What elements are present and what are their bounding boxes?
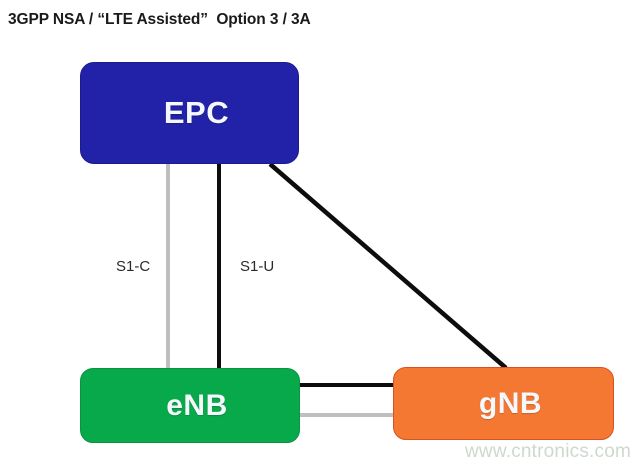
node-gnb-label: gNB: [479, 387, 542, 421]
node-gnb[interactable]: gNB: [393, 367, 614, 440]
node-enb-label: eNB: [166, 389, 228, 423]
edge-label-s1u: S1-U: [240, 258, 274, 275]
edge-epc-gnb-line: [270, 164, 506, 368]
diagram-canvas: 3GPP NSA / “LTE Assisted” Option 3 / 3A …: [0, 0, 640, 467]
watermark: www.cntronics.com: [465, 441, 631, 463]
node-enb[interactable]: eNB: [80, 368, 300, 443]
edge-label-s1c: S1-C: [116, 258, 150, 275]
node-epc[interactable]: EPC: [80, 62, 299, 164]
node-epc-label: EPC: [164, 95, 229, 131]
